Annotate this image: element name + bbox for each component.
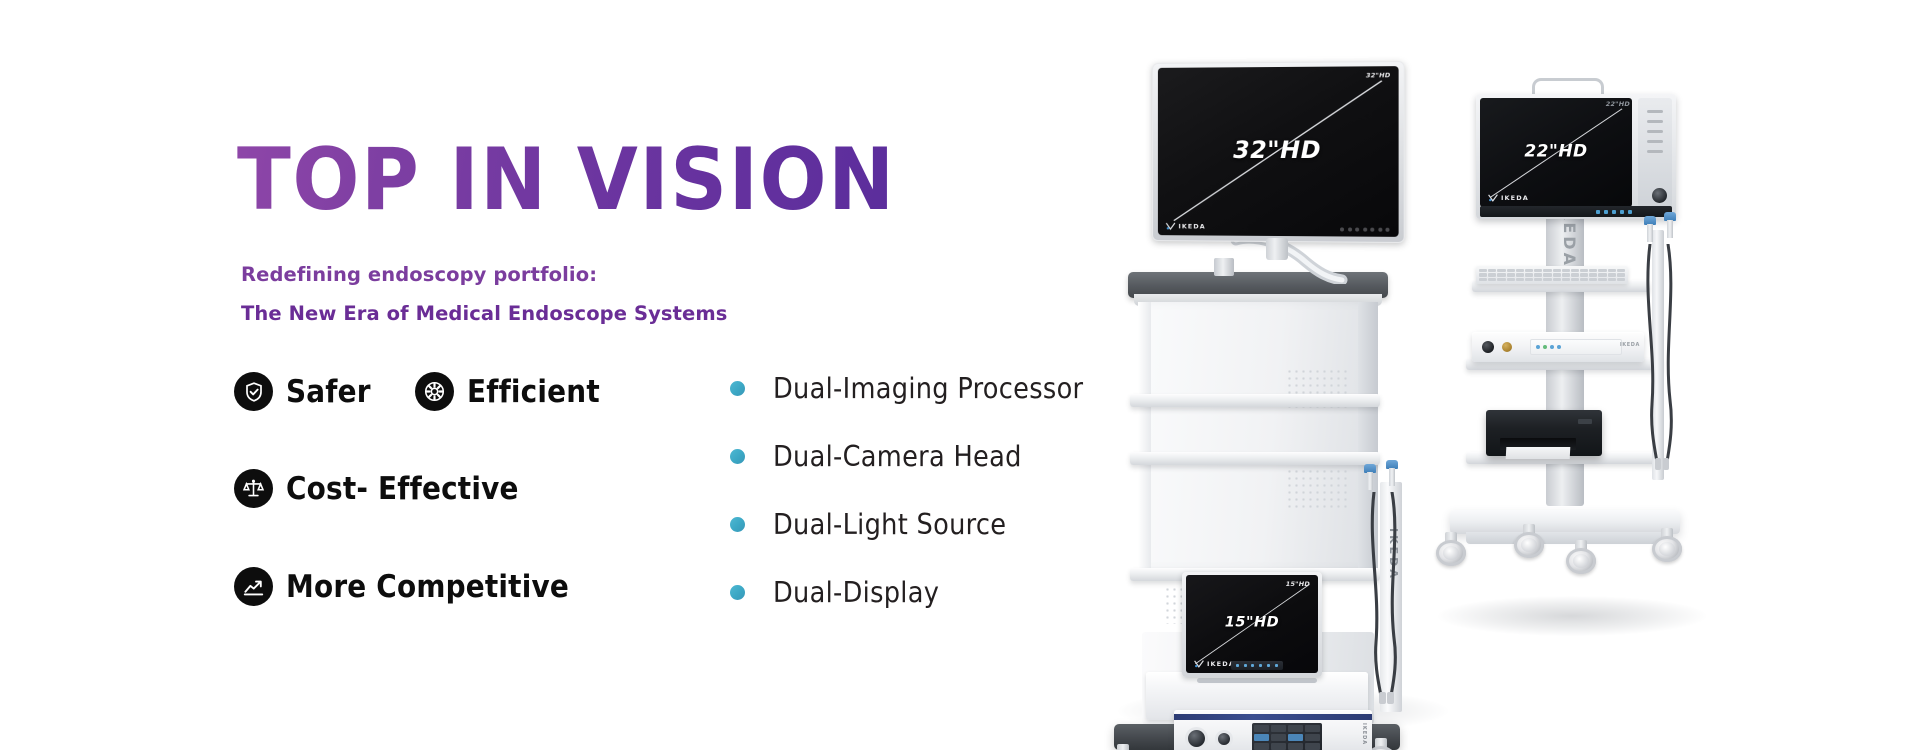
monitor-button-row[interactable] bbox=[1340, 227, 1389, 231]
key[interactable] bbox=[1516, 278, 1524, 281]
cart-shelf bbox=[1130, 452, 1380, 465]
key[interactable] bbox=[1598, 278, 1606, 281]
panel-key[interactable] bbox=[1254, 743, 1269, 750]
key[interactable] bbox=[1580, 269, 1588, 272]
monitor-screen: 15"HD 15"HD IKEDA bbox=[1186, 575, 1318, 673]
monitor-32-inch: 32"HD 32"HD IKEDA bbox=[1150, 62, 1404, 242]
control-key[interactable] bbox=[1251, 664, 1254, 667]
key[interactable] bbox=[1497, 269, 1505, 272]
panel-key[interactable] bbox=[1305, 734, 1320, 741]
key[interactable] bbox=[1617, 273, 1625, 276]
control-key[interactable] bbox=[1604, 210, 1608, 214]
key[interactable] bbox=[1507, 273, 1515, 276]
brand-name: IKEDA bbox=[1501, 194, 1529, 202]
brand-logo: IKEDA bbox=[1488, 194, 1529, 202]
control-key[interactable] bbox=[1628, 210, 1632, 214]
bullet-label: Dual-Display bbox=[773, 576, 939, 609]
valve-stem bbox=[1667, 220, 1673, 238]
panel-key[interactable] bbox=[1288, 734, 1303, 741]
key[interactable] bbox=[1543, 269, 1551, 272]
panel-key[interactable] bbox=[1271, 743, 1286, 750]
camera-connector-port bbox=[1482, 341, 1494, 353]
list-item: Dual-Display bbox=[730, 574, 1083, 610]
cart-perforation-panel bbox=[1286, 468, 1350, 512]
valve-stem bbox=[1367, 472, 1373, 490]
key[interactable] bbox=[1589, 273, 1597, 276]
key[interactable] bbox=[1553, 269, 1561, 272]
feature-item-more-competitive: More Competitive bbox=[234, 567, 569, 606]
unit-touch-panel[interactable] bbox=[1252, 723, 1322, 750]
brand-logo: IKEDA bbox=[1194, 660, 1235, 668]
key[interactable] bbox=[1598, 273, 1606, 276]
key[interactable] bbox=[1525, 269, 1533, 272]
monitor-control-panel[interactable] bbox=[1231, 661, 1283, 670]
key[interactable] bbox=[1580, 278, 1588, 281]
key[interactable] bbox=[1571, 278, 1579, 281]
status-indicator bbox=[1557, 345, 1561, 349]
bullet-label: Dual-Imaging Processor bbox=[773, 372, 1083, 405]
shield-check-icon bbox=[234, 372, 273, 411]
gear-target-icon bbox=[415, 372, 454, 411]
key[interactable] bbox=[1516, 273, 1524, 276]
status-indicator bbox=[1536, 345, 1540, 349]
feature-label: More Competitive bbox=[286, 569, 569, 605]
monitor-button[interactable] bbox=[1363, 228, 1367, 232]
key[interactable] bbox=[1525, 278, 1533, 281]
caster-fork bbox=[1117, 744, 1129, 750]
key[interactable] bbox=[1507, 278, 1515, 281]
ikeda-v-mark-icon bbox=[1166, 222, 1176, 230]
key[interactable] bbox=[1608, 269, 1616, 272]
key[interactable] bbox=[1479, 278, 1487, 281]
monitor-video-port[interactable] bbox=[1652, 188, 1667, 203]
control-key[interactable] bbox=[1620, 210, 1624, 214]
screen-corner-tag: 22"HD bbox=[1606, 100, 1630, 108]
valve-knob[interactable] bbox=[1662, 212, 1678, 238]
valve-knob[interactable] bbox=[1362, 464, 1378, 490]
panel-key[interactable] bbox=[1271, 734, 1286, 741]
side-vent bbox=[1647, 110, 1663, 113]
key[interactable] bbox=[1507, 269, 1515, 272]
unit-brand-label: IKEDA bbox=[1361, 723, 1367, 745]
brand-logo: IKEDA bbox=[1166, 222, 1206, 230]
key[interactable] bbox=[1589, 269, 1597, 272]
control-key[interactable] bbox=[1259, 664, 1262, 667]
status-indicator bbox=[1550, 345, 1554, 349]
cart-left-column bbox=[1138, 302, 1151, 570]
key[interactable] bbox=[1534, 273, 1542, 276]
key[interactable] bbox=[1534, 278, 1542, 281]
screen-size-label: 15"HD bbox=[1186, 615, 1318, 631]
ikeda-v-mark-icon bbox=[1488, 194, 1498, 202]
key[interactable] bbox=[1543, 273, 1551, 276]
unit-status-panel[interactable] bbox=[1530, 339, 1622, 355]
bullet-label: Dual-Light Source bbox=[773, 508, 1006, 541]
control-key[interactable] bbox=[1596, 210, 1600, 214]
feature-bullet-list: Dual-Imaging Processor Dual-Camera Head … bbox=[730, 370, 1083, 610]
medical-printer bbox=[1486, 410, 1602, 456]
key[interactable] bbox=[1617, 269, 1625, 272]
valve-stem bbox=[1647, 224, 1653, 242]
screen-size-label: 22"HD bbox=[1480, 141, 1632, 161]
control-key[interactable] bbox=[1275, 664, 1278, 667]
monitor-screen: 32"HD 32"HD IKEDA bbox=[1158, 66, 1399, 237]
side-vent bbox=[1647, 150, 1663, 153]
caster-wheel bbox=[1108, 744, 1138, 750]
caster-roller bbox=[1652, 536, 1682, 562]
caster-roller bbox=[1514, 532, 1544, 558]
key[interactable] bbox=[1608, 278, 1616, 281]
ikeda-v-mark-icon bbox=[1194, 660, 1204, 668]
monitor-button[interactable] bbox=[1340, 227, 1344, 231]
cart-base-skirt bbox=[1466, 532, 1664, 544]
feature-label: Safer bbox=[286, 374, 371, 410]
panel-key[interactable] bbox=[1288, 725, 1303, 732]
scope-cable bbox=[1640, 244, 1690, 470]
balance-scales-icon bbox=[234, 469, 273, 508]
panel-key[interactable] bbox=[1254, 734, 1269, 741]
screen-size-label: 32"HD bbox=[1158, 135, 1399, 163]
key[interactable] bbox=[1479, 273, 1487, 276]
screen-corner-tag: 32"HD bbox=[1366, 71, 1391, 79]
status-indicator bbox=[1543, 345, 1547, 349]
monitor-button[interactable] bbox=[1355, 228, 1359, 232]
caster-roller bbox=[1436, 540, 1466, 566]
caster-wheel bbox=[1566, 540, 1596, 574]
panel-key[interactable] bbox=[1254, 725, 1269, 732]
control-key[interactable] bbox=[1612, 210, 1616, 214]
valve-knob[interactable] bbox=[1642, 216, 1658, 242]
feature-item-efficient: Efficient bbox=[415, 372, 600, 411]
monitor-15-inch: 15"HD 15"HD IKEDA bbox=[1182, 572, 1322, 677]
feature-label: Cost- Effective bbox=[286, 471, 519, 507]
control-key[interactable] bbox=[1267, 664, 1270, 667]
feature-label: Efficient bbox=[467, 374, 600, 410]
key[interactable] bbox=[1516, 269, 1524, 272]
subtitle-line-2: The New Era of Medical Endoscope Systems bbox=[241, 302, 728, 325]
panel-key[interactable] bbox=[1305, 743, 1320, 750]
key[interactable] bbox=[1562, 278, 1570, 281]
chart-arrow-up-icon bbox=[234, 567, 273, 606]
cart-shelf bbox=[1130, 394, 1380, 407]
scope-cable bbox=[1366, 492, 1418, 704]
camera-connector-port bbox=[1218, 733, 1230, 745]
caster-wheel bbox=[1652, 528, 1682, 562]
side-vent bbox=[1647, 130, 1663, 133]
key[interactable] bbox=[1525, 273, 1533, 276]
monitor-button[interactable] bbox=[1348, 227, 1352, 231]
light-guide-port bbox=[1188, 730, 1205, 747]
key[interactable] bbox=[1562, 273, 1570, 276]
key[interactable] bbox=[1488, 269, 1496, 272]
monitor-22-inch: 22"HD IKEDA 22"HD bbox=[1476, 94, 1676, 219]
key[interactable] bbox=[1562, 269, 1570, 272]
panel-key[interactable] bbox=[1305, 725, 1320, 732]
key[interactable] bbox=[1553, 273, 1561, 276]
unit-accent-stripe bbox=[1174, 714, 1372, 720]
imaging-processor-unit: IKEDA bbox=[1174, 710, 1372, 750]
monitor-button[interactable] bbox=[1378, 228, 1382, 232]
printer-indicator bbox=[1578, 419, 1592, 424]
bullet-dot-icon bbox=[730, 449, 745, 464]
key[interactable] bbox=[1580, 273, 1588, 276]
control-key[interactable] bbox=[1244, 664, 1247, 667]
monitor-screen: 22"HD IKEDA bbox=[1480, 98, 1632, 207]
light-guide-port bbox=[1502, 342, 1512, 352]
page-title: TOP IN VISION bbox=[237, 140, 896, 222]
endoscopy-cart-large: 15"HD 15"HD IKEDA bbox=[1090, 272, 1420, 712]
key[interactable] bbox=[1617, 278, 1625, 281]
video-processor-unit: IKEDA bbox=[1472, 332, 1644, 362]
key[interactable] bbox=[1488, 278, 1496, 281]
monitor-button[interactable] bbox=[1385, 228, 1389, 232]
panel-key[interactable] bbox=[1271, 725, 1286, 732]
panel-key[interactable] bbox=[1288, 743, 1303, 750]
control-key[interactable] bbox=[1236, 664, 1239, 667]
side-vent bbox=[1647, 120, 1663, 123]
bullet-label: Dual-Camera Head bbox=[773, 440, 1022, 473]
caster-roller bbox=[1566, 548, 1596, 574]
bullet-dot-icon bbox=[730, 585, 745, 600]
feature-item-cost-effective: Cost- Effective bbox=[234, 469, 519, 508]
product-photo-group: 15"HD 15"HD IKEDA bbox=[1090, 0, 1920, 750]
caster-wheel bbox=[1514, 524, 1544, 558]
key[interactable] bbox=[1479, 269, 1487, 272]
caster-wheel bbox=[1436, 532, 1466, 566]
key[interactable] bbox=[1598, 269, 1606, 272]
brand-name: IKEDA bbox=[1178, 222, 1205, 230]
scope-holder-assembly: IKEDA bbox=[1368, 482, 1422, 712]
key[interactable] bbox=[1571, 269, 1579, 272]
list-item: Dual-Imaging Processor bbox=[730, 370, 1083, 406]
screen-corner-tag: 15"HD bbox=[1286, 580, 1310, 588]
bullet-dot-icon bbox=[730, 381, 745, 396]
endoscopy-cart-compact: IKEDA bbox=[1420, 80, 1710, 640]
monitor-button[interactable] bbox=[1370, 228, 1374, 232]
key[interactable] bbox=[1488, 273, 1496, 276]
list-item: Dual-Light Source bbox=[730, 506, 1083, 542]
key[interactable] bbox=[1553, 278, 1561, 281]
valve-knob[interactable] bbox=[1384, 460, 1400, 486]
cart-body bbox=[1138, 302, 1378, 570]
subtitle-line-1: Redefining endoscopy portfolio: bbox=[241, 263, 597, 286]
monitor-neck bbox=[1266, 238, 1288, 260]
key[interactable] bbox=[1497, 273, 1505, 276]
feature-item-safer: Safer bbox=[234, 372, 371, 411]
printer-output-paper bbox=[1506, 447, 1571, 459]
bullet-dot-icon bbox=[730, 517, 745, 532]
keyboard-tray[interactable] bbox=[1476, 266, 1628, 284]
key[interactable] bbox=[1534, 269, 1542, 272]
cart-base bbox=[1450, 510, 1680, 534]
key[interactable] bbox=[1589, 278, 1597, 281]
key[interactable] bbox=[1571, 273, 1579, 276]
key[interactable] bbox=[1497, 278, 1505, 281]
banner-root: TOP IN VISION Redefining endoscopy portf… bbox=[0, 0, 1920, 750]
side-vent bbox=[1647, 140, 1663, 143]
key[interactable] bbox=[1608, 273, 1616, 276]
valve-stem bbox=[1389, 468, 1395, 486]
list-item: Dual-Camera Head bbox=[730, 438, 1083, 474]
scope-holder-assembly bbox=[1636, 230, 1692, 480]
key[interactable] bbox=[1543, 278, 1551, 281]
